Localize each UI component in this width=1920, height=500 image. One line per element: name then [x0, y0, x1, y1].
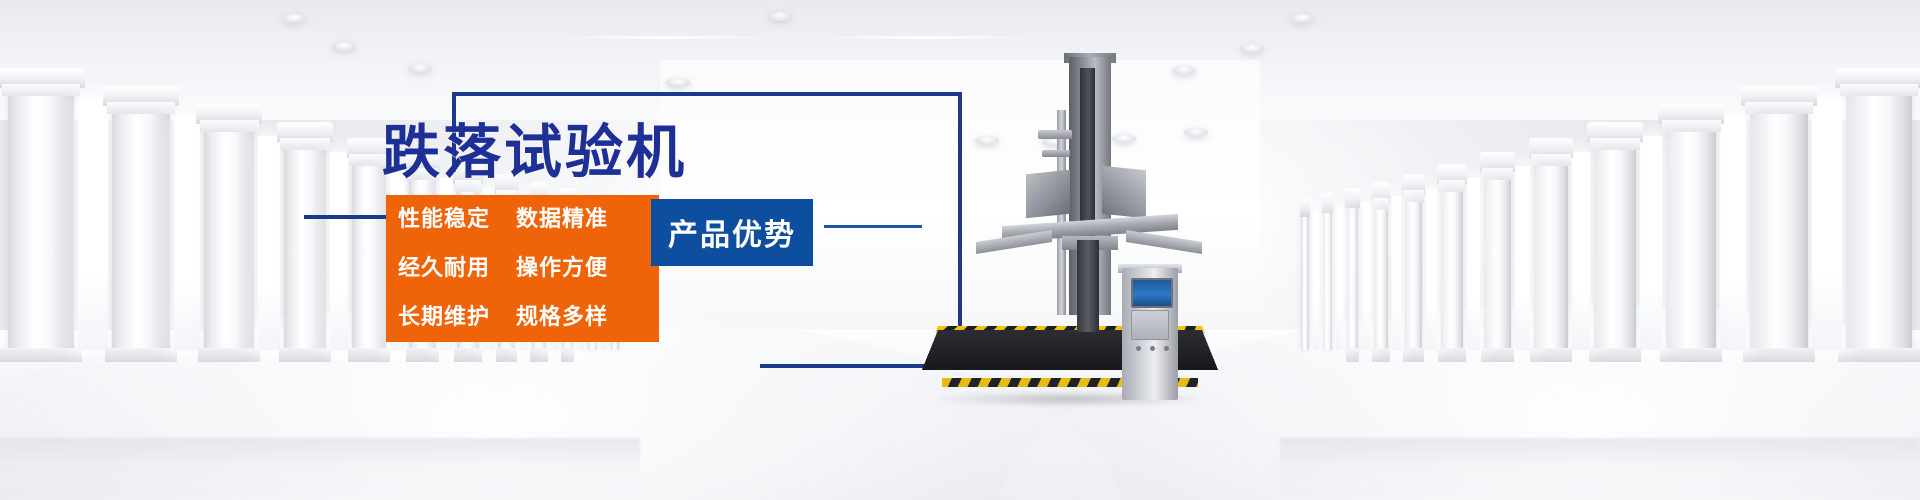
- status-badge: 产品优势: [651, 199, 813, 266]
- light-panel-r11: [1313, 211, 1319, 350]
- ceiling-strip-1: [560, 36, 770, 39]
- light-panel-l1: [78, 100, 108, 350]
- console-indicator: [1164, 346, 1169, 351]
- ceiling-light-5: [768, 12, 792, 21]
- ceiling-light-2: [332, 42, 356, 51]
- column-r11: [1323, 207, 1332, 350]
- column-l4: [284, 136, 326, 350]
- feature-label: 经久耐用: [398, 244, 516, 293]
- lower-column: [1077, 240, 1099, 332]
- light-panel-r2: [1720, 118, 1746, 350]
- floor-reflection-right: [1280, 438, 1920, 500]
- console-keypad: [1131, 310, 1169, 340]
- ceiling-strip-2: [820, 36, 1030, 39]
- light-panel-r4: [1572, 152, 1590, 350]
- ceiling-light-10: [1290, 14, 1314, 23]
- column-l2: [112, 100, 170, 350]
- column-r8: [1405, 188, 1422, 350]
- light-panel-r1: [1812, 100, 1842, 350]
- console-indicator: [1136, 346, 1141, 351]
- ceiling-light-3: [408, 64, 432, 73]
- drop-test-machine: [930, 40, 1230, 385]
- ceiling-light-1: [282, 14, 306, 23]
- specimen-clamp-right: [1102, 166, 1146, 219]
- column-r9: [1374, 196, 1388, 350]
- column-r10: [1347, 202, 1358, 350]
- ceiling-light-11: [1240, 44, 1264, 53]
- feature-label: 数据精准: [516, 195, 634, 244]
- column-r12: [1301, 211, 1309, 350]
- light-panel-r10: [1336, 207, 1343, 350]
- console-indicator: [1150, 346, 1155, 351]
- column-l1: [8, 82, 74, 350]
- feature-label: 操作方便: [516, 244, 634, 293]
- floor-reflection-left: [0, 438, 640, 500]
- feature-row: 长期维护 规格多样: [398, 293, 659, 342]
- light-panel-l2: [174, 118, 200, 350]
- column-r1: [1846, 82, 1912, 350]
- feature-label: 性能稳定: [398, 195, 516, 244]
- light-panel-r8: [1392, 196, 1401, 350]
- platform-arm-right: [1126, 230, 1202, 254]
- light-panel-l3: [258, 136, 280, 350]
- page-title: 跌落试验机: [382, 121, 687, 183]
- light-panel-l4: [330, 152, 348, 350]
- column-r2: [1750, 100, 1808, 350]
- column-r4: [1594, 136, 1636, 350]
- light-panel-r7: [1426, 188, 1437, 350]
- feature-row: 经久耐用 操作方便: [398, 244, 659, 293]
- feature-label: 长期维护: [398, 293, 516, 342]
- frame-line-top: [452, 92, 962, 96]
- upper-arm: [1038, 130, 1072, 139]
- feature-list-panel: 性能稳定 数据精准 经久耐用 操作方便 长期维护 规格多样: [386, 195, 659, 342]
- product-banner: 跌落试验机 性能稳定 数据精准 经久耐用 操作方便 长期维护 规格多样 产品优势: [0, 0, 1920, 500]
- light-panel-r6: [1467, 178, 1480, 350]
- ceiling-light-4: [666, 78, 690, 87]
- light-panel-r5: [1515, 166, 1530, 350]
- frame-connector-line: [824, 225, 922, 228]
- light-panel-r9: [1362, 202, 1370, 350]
- specimen-clamp-left: [1026, 170, 1070, 219]
- column-l3: [204, 118, 254, 350]
- feature-row: 性能稳定 数据精准: [398, 195, 659, 244]
- column-r7: [1441, 178, 1463, 350]
- console-display: [1131, 278, 1173, 308]
- column-r5: [1534, 152, 1568, 350]
- feature-label: 规格多样: [516, 293, 634, 342]
- column-r3: [1666, 118, 1716, 350]
- column-r6: [1484, 166, 1511, 350]
- light-panel-r3: [1640, 136, 1662, 350]
- upper-arm-secondary: [1042, 150, 1070, 157]
- column-l5: [352, 152, 386, 350]
